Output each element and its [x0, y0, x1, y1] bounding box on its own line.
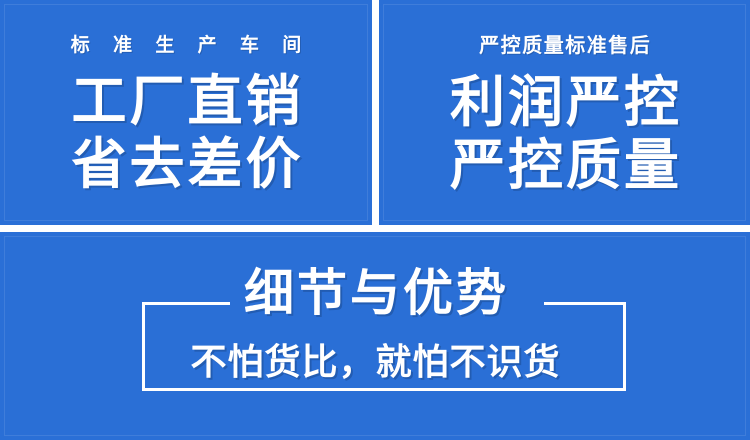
panel-factory-direct-headline-line1: 工厂直销 — [68, 73, 303, 130]
panel-factory-direct: 标 准 生 产 车 间 工厂直销 省去差价 — [0, 0, 372, 225]
panel-factory-direct-content: 标 准 生 产 车 间 工厂直销 省去差价 — [0, 0, 372, 225]
panel-factory-direct-headline-line2: 省去差价 — [68, 136, 303, 193]
panel-quality-control-content: 严控质量标准售后 利润严控 严控质量 — [379, 0, 750, 225]
panel-quality-control-headline-line2: 严控质量 — [447, 137, 682, 194]
panel-quality-control-eyebrow: 严控质量标准售后 — [478, 29, 652, 58]
panel-quality-control: 严控质量标准售后 利润严控 严控质量 — [379, 0, 750, 225]
promo-banner: 标 准 生 产 车 间 工厂直销 省去差价 严控质量标准售后 利润严控 严控质量… — [0, 0, 750, 440]
panel-quality-control-headline-line1: 利润严控 — [447, 74, 682, 131]
details-frame-bottom-edge — [142, 388, 626, 391]
details-title: 细节与优势 — [0, 268, 750, 318]
panel-details-advantages: 细节与优势 不怕货比，就怕不识货 — [0, 232, 750, 440]
details-subtitle: 不怕货比，就怕不识货 — [0, 344, 750, 380]
panel-factory-direct-eyebrow: 标 准 生 产 车 间 — [62, 30, 310, 57]
